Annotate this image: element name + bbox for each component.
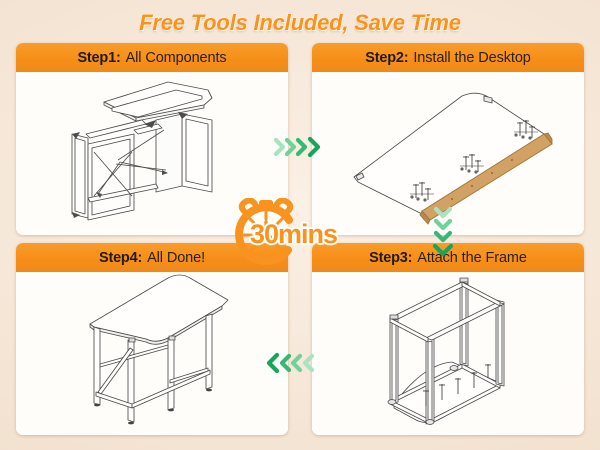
- infographic-root: Free Tools Included, Save Time Step1: Al…: [0, 0, 600, 450]
- headline-banner: Free Tools Included, Save Time: [0, 6, 600, 40]
- panel-step4-illustration: [16, 272, 288, 435]
- panel-step1-step-label: All Components: [126, 50, 227, 66]
- panel-step1-step-number: Step1:: [77, 50, 120, 66]
- panel-step3-step-label: Attach the Frame: [417, 250, 527, 266]
- duration-label: 30mins: [250, 216, 376, 252]
- panel-step1-header: Step1: All Components: [16, 43, 288, 72]
- panel-step2-step-label: Install the Desktop: [413, 50, 530, 66]
- duration-badge: 30mins: [228, 196, 376, 272]
- inverted-frame-assembly-icon: [312, 272, 584, 435]
- panel-step4-step-label: All Done!: [147, 250, 205, 266]
- panel-step2-step-number: Step2:: [365, 50, 408, 66]
- panel-step3-illustration: [312, 272, 584, 435]
- finished-desk-icon: [16, 272, 288, 435]
- page-title: Free Tools Included, Save Time: [139, 6, 461, 40]
- panel-step4-step-number: Step4:: [99, 250, 142, 266]
- panel-step2-header: Step2: Install the Desktop: [312, 43, 584, 72]
